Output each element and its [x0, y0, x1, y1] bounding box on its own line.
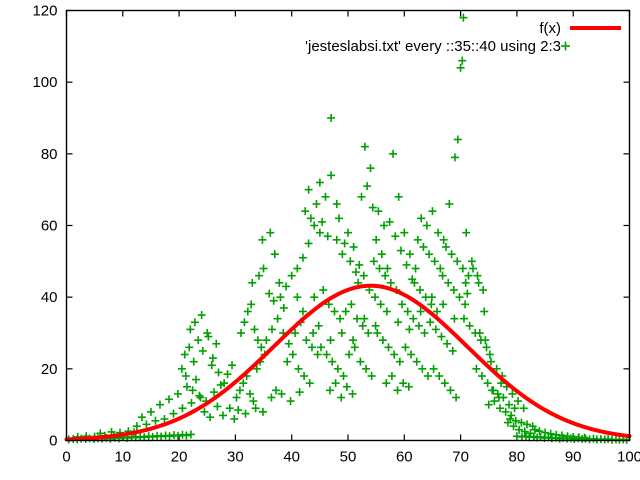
x-tick-label: 60 [396, 449, 413, 466]
x-tick-label: 80 [509, 449, 526, 466]
x-tick-label: 70 [452, 449, 469, 466]
legend-entry-label-datafile: 'jesteslabsi.txt' every ::35::40 using 2… [305, 38, 561, 55]
y-tick-label: 120 [32, 3, 57, 20]
legend-entry-label-fx: f(x) [539, 20, 561, 37]
y-tick-label: 80 [41, 146, 58, 163]
gnuplot-figure: 020406080100120 0102030405060708090100 f… [0, 0, 640, 480]
y-tick-label: 60 [41, 218, 58, 235]
x-tick-label: 50 [340, 449, 357, 466]
x-tick-label: 90 [565, 449, 582, 466]
x-tick-label: 30 [227, 449, 244, 466]
y-tick-label: 0 [49, 433, 57, 450]
x-tick-label: 40 [283, 449, 300, 466]
y-tick-label: 100 [32, 74, 57, 91]
x-tick-label: 100 [617, 449, 640, 466]
x-tick-label: 0 [62, 449, 70, 466]
x-tick-label: 10 [114, 449, 131, 466]
x-tick-label: 20 [171, 449, 188, 466]
y-tick-label: 20 [41, 361, 58, 378]
y-tick-label: 40 [41, 289, 58, 306]
plot-canvas: 020406080100120 0102030405060708090100 f… [0, 0, 640, 480]
